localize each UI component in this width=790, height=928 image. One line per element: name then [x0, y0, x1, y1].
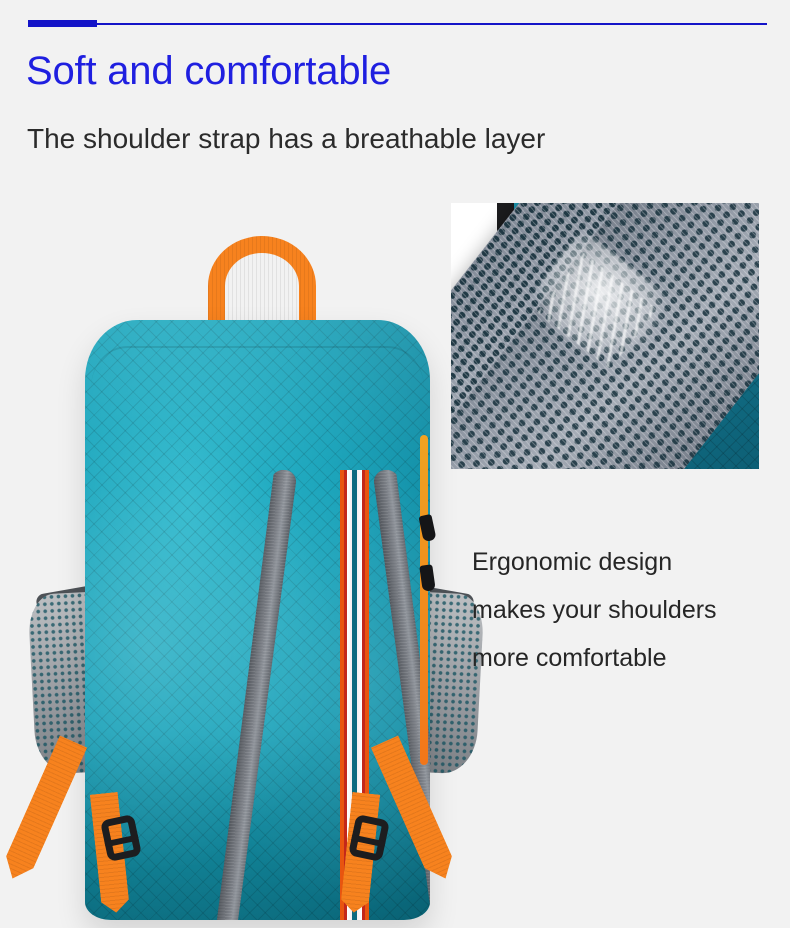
mesh-closeup-photo — [451, 203, 759, 469]
backpack-product-photo — [0, 195, 470, 915]
feature-description: Ergonomic design makes your shoulders mo… — [472, 538, 784, 682]
accent-rule — [28, 23, 767, 25]
zipper-pull-icon-lower — [419, 564, 435, 592]
page-title: Soft and comfortable — [26, 46, 766, 96]
accent-block — [28, 20, 97, 27]
top-seam — [91, 346, 424, 388]
marketing-banner: Soft and comfortable The shoulder strap … — [0, 0, 790, 928]
side-zipper-tape — [420, 435, 428, 765]
feature-line-2: makes your shoulders — [472, 586, 784, 634]
page-subtitle: The shoulder strap has a breathable laye… — [27, 120, 767, 158]
feature-line-1: Ergonomic design — [472, 538, 784, 586]
feature-line-3: more comfortable — [472, 634, 784, 682]
